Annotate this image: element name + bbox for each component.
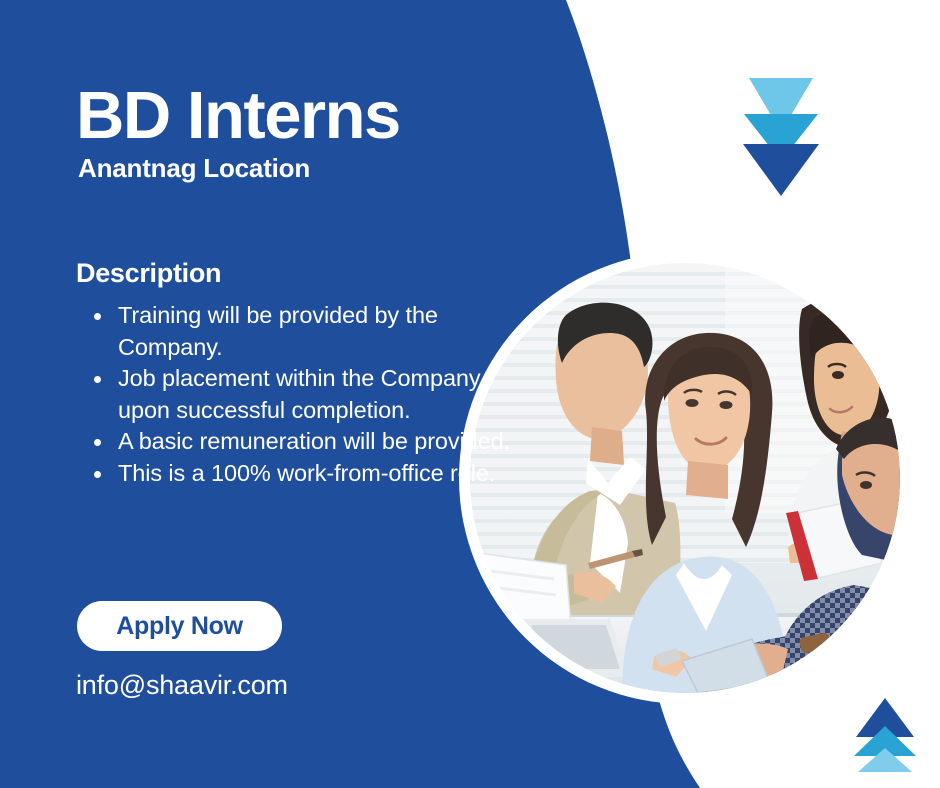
description-heading: Description: [76, 258, 221, 289]
list-item: This is a 100% work-from-office role.: [118, 458, 538, 490]
list-item: Job placement within the Company upon su…: [118, 363, 538, 426]
description-bullet-list: Training will be provided by the Company…: [76, 300, 538, 489]
list-item: Training will be provided by the Company…: [118, 300, 538, 363]
page-title: BD Interns: [76, 82, 400, 149]
triangle-stack-top-right: [735, 72, 827, 198]
contact-email[interactable]: info@shaavir.com: [76, 670, 288, 701]
apply-now-button[interactable]: Apply Now: [77, 601, 282, 651]
triangle-dark-down: [743, 144, 819, 196]
triangle-stack-bottom-right: [848, 696, 922, 776]
page-subtitle: Anantnag Location: [78, 154, 310, 183]
list-item: A basic remuneration will be provided.: [118, 426, 538, 458]
job-poster: BD Interns Anantnag Location Description…: [0, 0, 940, 788]
poster-content: BD Interns Anantnag Location Description…: [0, 0, 560, 788]
